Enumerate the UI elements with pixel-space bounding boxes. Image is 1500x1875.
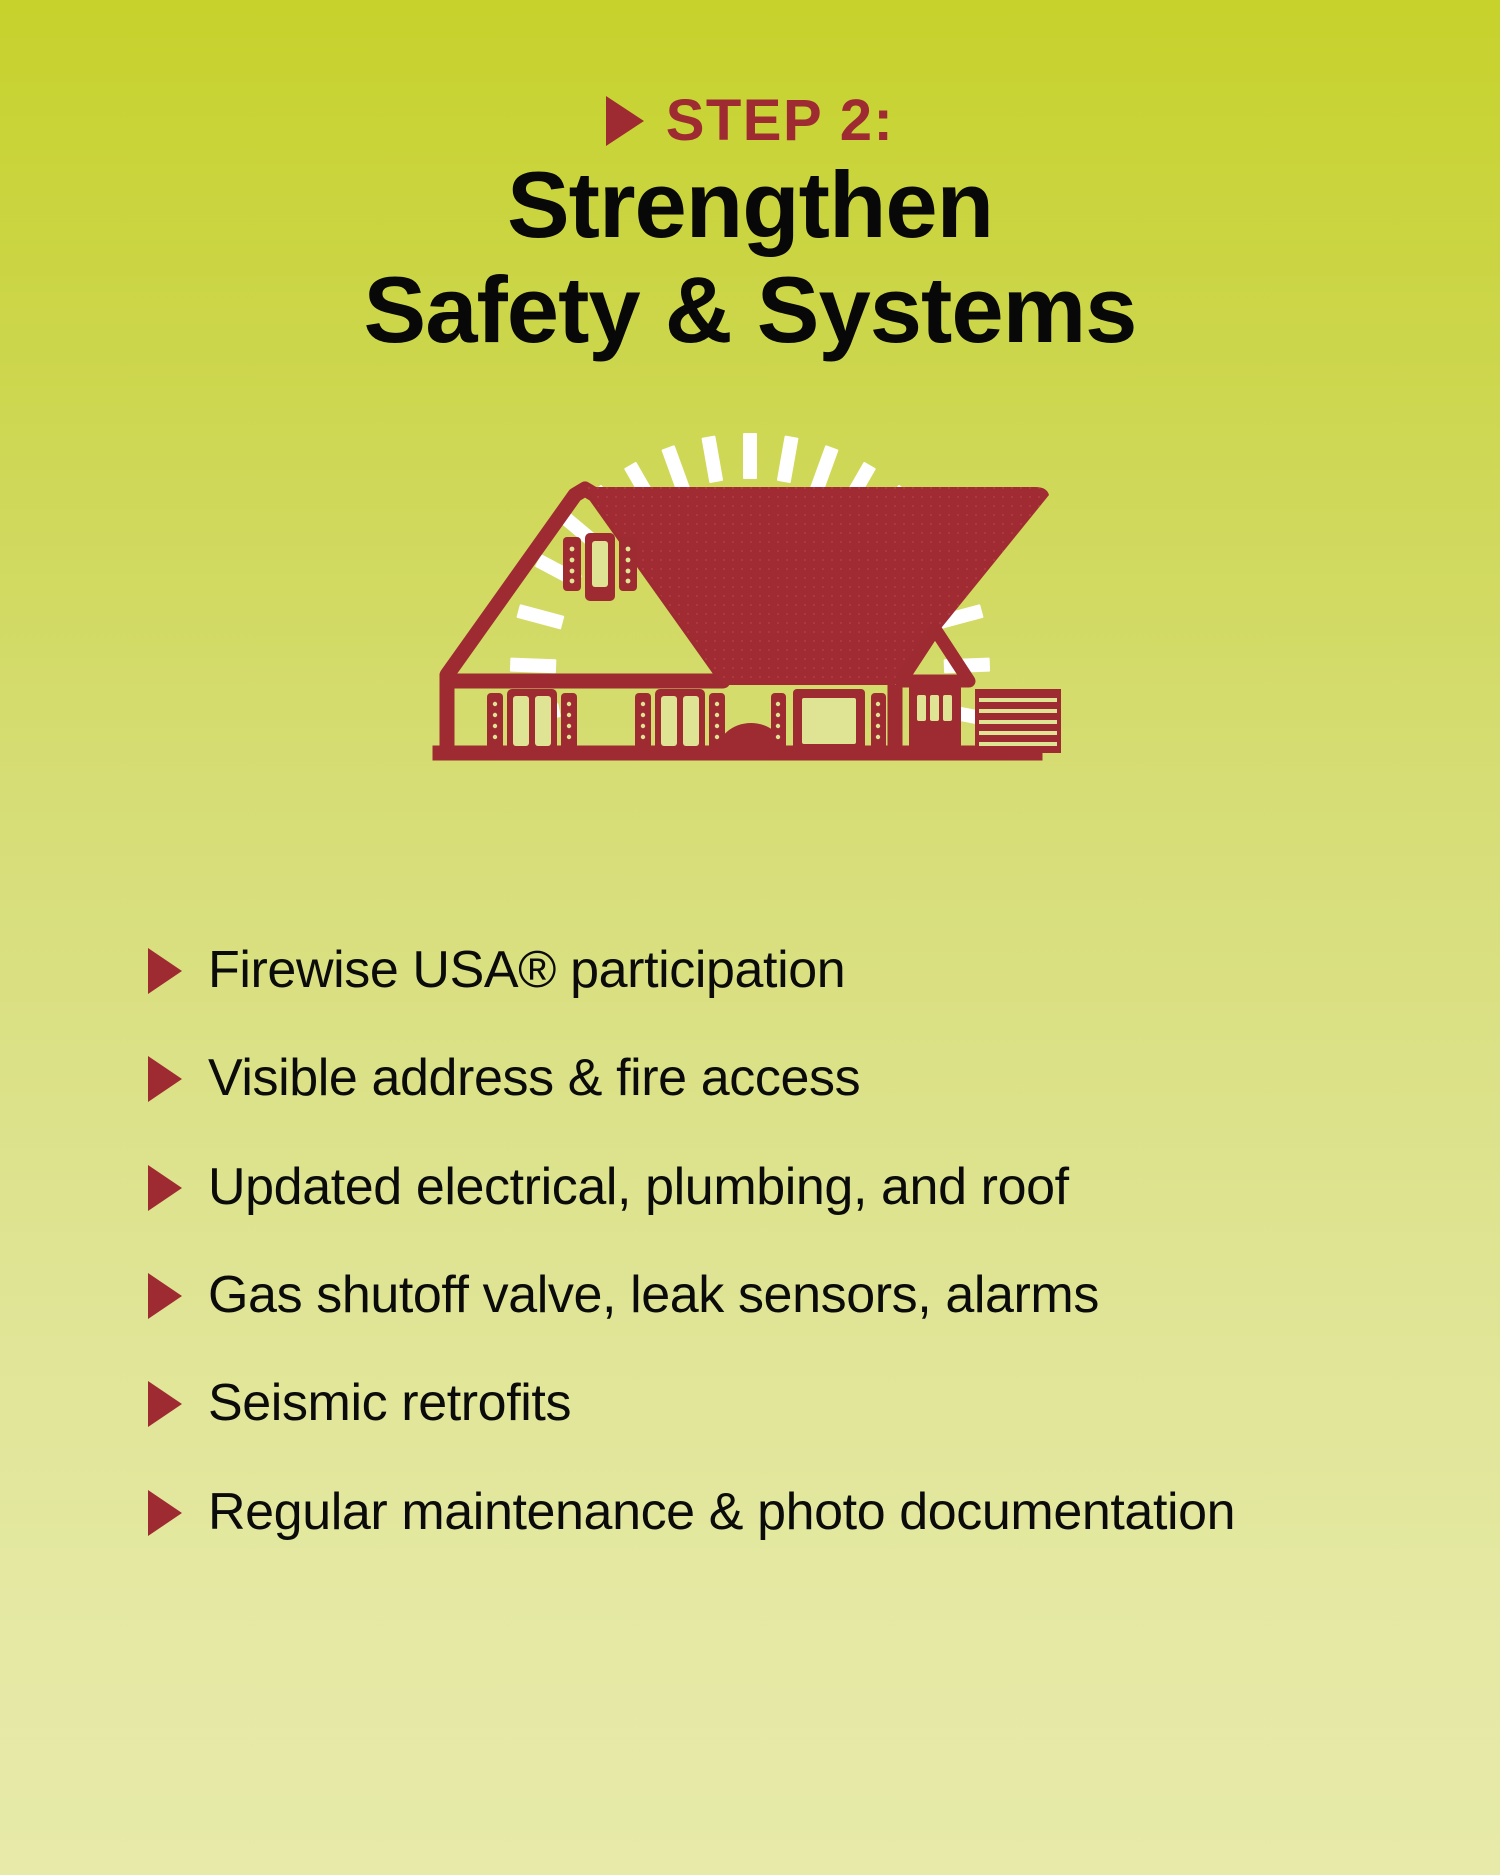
garage-door bbox=[975, 689, 1061, 753]
page-title: Strengthen Safety & Systems bbox=[0, 152, 1500, 363]
step-label: STEP 2: bbox=[666, 92, 895, 150]
list-item: Seismic retrofits bbox=[148, 1373, 1460, 1433]
list-item: Updated electrical, plumbing, and roof bbox=[148, 1157, 1460, 1217]
left-shuttered-window bbox=[487, 689, 577, 753]
list-item: Regular maintenance & photo documentatio… bbox=[148, 1482, 1460, 1542]
triangle-right-icon bbox=[148, 948, 182, 994]
house-icon bbox=[335, 423, 1165, 813]
triangle-right-icon bbox=[148, 1490, 182, 1536]
list-item: Visible address & fire access bbox=[148, 1048, 1460, 1108]
list-item-label: Visible address & fire access bbox=[208, 1048, 860, 1108]
front-door bbox=[909, 685, 961, 755]
title-line-2: Safety & Systems bbox=[60, 257, 1440, 362]
picture-window bbox=[771, 689, 886, 753]
infographic-poster: STEP 2: Strengthen Safety & Systems bbox=[0, 0, 1500, 1875]
list-item-label: Seismic retrofits bbox=[208, 1373, 571, 1433]
list-item-label: Updated electrical, plumbing, and roof bbox=[208, 1157, 1069, 1217]
triangle-right-icon bbox=[148, 1273, 182, 1319]
title-line-1: Strengthen bbox=[60, 152, 1440, 257]
right-shuttered-window bbox=[635, 689, 725, 753]
list-item-label: Regular maintenance & photo documentatio… bbox=[208, 1482, 1235, 1542]
step-header: STEP 2: bbox=[0, 92, 1500, 150]
list-item: Gas shutoff valve, leak sensors, alarms bbox=[148, 1265, 1460, 1325]
triangle-right-icon bbox=[148, 1165, 182, 1211]
house-with-rays-illustration bbox=[0, 428, 1500, 808]
roof-texture bbox=[585, 487, 1049, 685]
attic-vent-window bbox=[563, 533, 637, 601]
triangle-right-icon bbox=[606, 96, 644, 146]
checklist: Firewise USA® participation Visible addr… bbox=[148, 940, 1460, 1542]
list-item-label: Gas shutoff valve, leak sensors, alarms bbox=[208, 1265, 1099, 1325]
list-item-label: Firewise USA® participation bbox=[208, 940, 845, 1000]
triangle-right-icon bbox=[148, 1056, 182, 1102]
list-item: Firewise USA® participation bbox=[148, 940, 1460, 1000]
triangle-right-icon bbox=[148, 1381, 182, 1427]
